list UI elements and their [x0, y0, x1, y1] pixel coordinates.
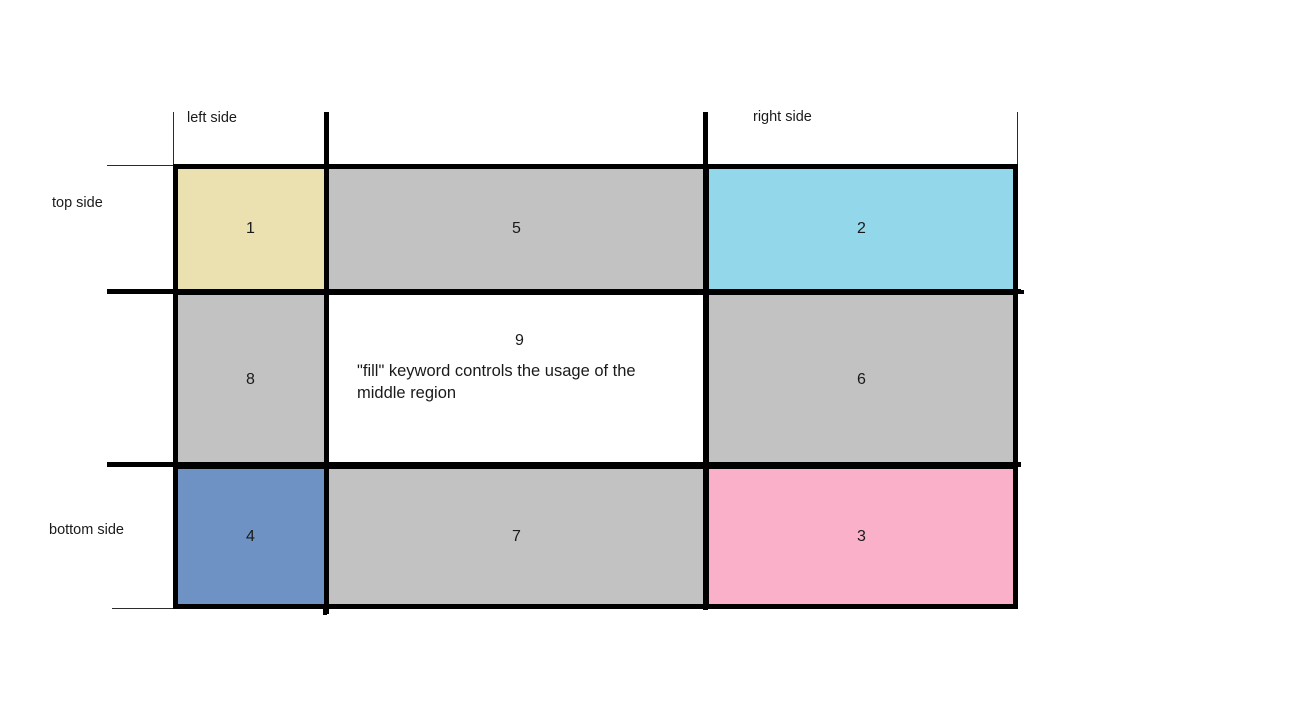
- column-divider-right: [703, 112, 708, 610]
- region-5[interactable]: 5: [325, 164, 708, 294]
- region-8[interactable]: 8: [173, 291, 328, 468]
- grid-border-right: [1013, 164, 1018, 609]
- tick-bottom-center: [323, 609, 327, 615]
- column-divider-left: [324, 112, 329, 614]
- row-divider-top: [107, 289, 1021, 294]
- grid-border-left: [173, 164, 178, 609]
- region-8-label: 8: [246, 370, 255, 389]
- row-divider-bottom: [107, 462, 1021, 467]
- tick-right-middle: [1018, 290, 1024, 294]
- label-left-side: left side: [187, 111, 237, 127]
- guide-line-top-left: [107, 165, 174, 166]
- guide-line-right-column: [1017, 112, 1018, 165]
- grid-border-top: [173, 164, 1018, 169]
- region-9-label: 9: [357, 331, 682, 350]
- region-4-label: 4: [246, 527, 255, 546]
- guide-line-left-column: [173, 112, 174, 165]
- region-7[interactable]: 7: [325, 465, 708, 608]
- region-grid: 1 5 2 8 9 "fill" keyword controls the us…: [173, 164, 1018, 608]
- label-bottom-side: bottom side: [49, 523, 124, 539]
- region-2-label: 2: [857, 219, 866, 238]
- guide-line-bottom-left: [112, 608, 174, 609]
- label-right-side: right side: [753, 110, 812, 126]
- region-2[interactable]: 2: [705, 164, 1018, 294]
- grid-border-bottom: [173, 604, 1018, 609]
- diagram-canvas: left side right side top side bottom sid…: [0, 0, 1290, 701]
- region-4[interactable]: 4: [173, 465, 328, 608]
- region-6-label: 6: [857, 370, 866, 389]
- middle-region-note: "fill" keyword controls the usage of the…: [357, 360, 682, 405]
- region-1-label: 1: [246, 219, 255, 238]
- region-3[interactable]: 3: [705, 465, 1018, 608]
- region-7-label: 7: [512, 527, 521, 546]
- region-9[interactable]: 9 "fill" keyword controls the usage of t…: [325, 291, 708, 468]
- region-6[interactable]: 6: [705, 291, 1018, 468]
- region-5-label: 5: [512, 219, 521, 238]
- label-top-side: top side: [52, 196, 103, 212]
- region-3-label: 3: [857, 527, 866, 546]
- region-1[interactable]: 1: [173, 164, 328, 294]
